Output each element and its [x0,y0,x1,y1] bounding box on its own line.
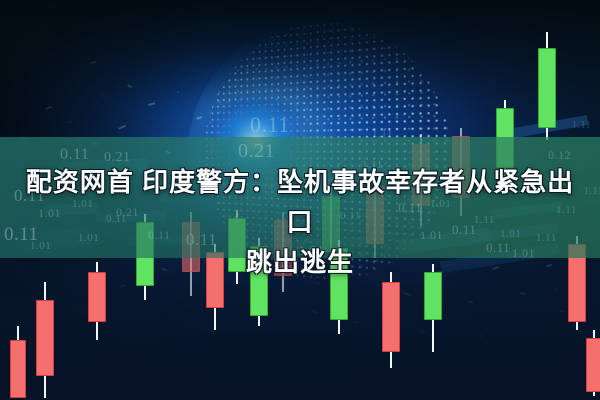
headline-line-2: 跳出逃生 [14,242,586,282]
headline-line-1: 配资网首 印度警方：坠机事故幸存者从紧急出口 [14,162,586,242]
headline-text: 配资网首 印度警方：坠机事故幸存者从紧急出口 跳出逃生 [0,162,600,282]
price-number: 0.21 [238,140,275,163]
news-thumbnail-image: 0.110.110.111.011.011.011.010.110.210.11… [0,0,600,400]
price-number: 1.11 [572,120,591,131]
price-number: 0.12 [548,148,571,163]
price-number: 1.11 [372,128,393,140]
price-number: 0.11 [250,112,290,138]
